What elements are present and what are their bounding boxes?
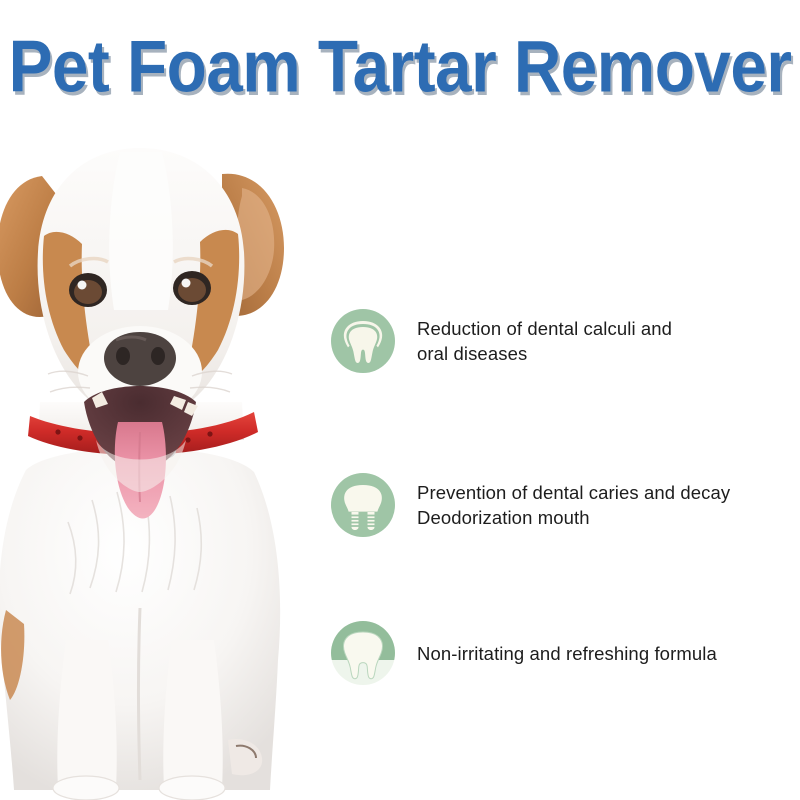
feature-item-2: Prevention of dental caries and decay De… bbox=[330, 472, 730, 538]
feature-label-1: Reduction of dental calculi and oral dis… bbox=[417, 316, 672, 366]
tooth-outline-icon bbox=[330, 308, 396, 374]
product-hero-photo-dog bbox=[0, 140, 292, 800]
page-title: Pet Foam Tartar Remover bbox=[0, 30, 800, 106]
feature-label-3: Non-irritating and refreshing formula bbox=[417, 641, 717, 666]
feature-item-3: Non-irritating and refreshing formula bbox=[330, 620, 717, 686]
tooth-two-tone-icon bbox=[330, 620, 396, 686]
feature-item-1: Reduction of dental calculi and oral dis… bbox=[330, 308, 672, 374]
tooth-implant-icon bbox=[330, 472, 396, 538]
feature-label-2: Prevention of dental caries and decay De… bbox=[417, 480, 730, 530]
